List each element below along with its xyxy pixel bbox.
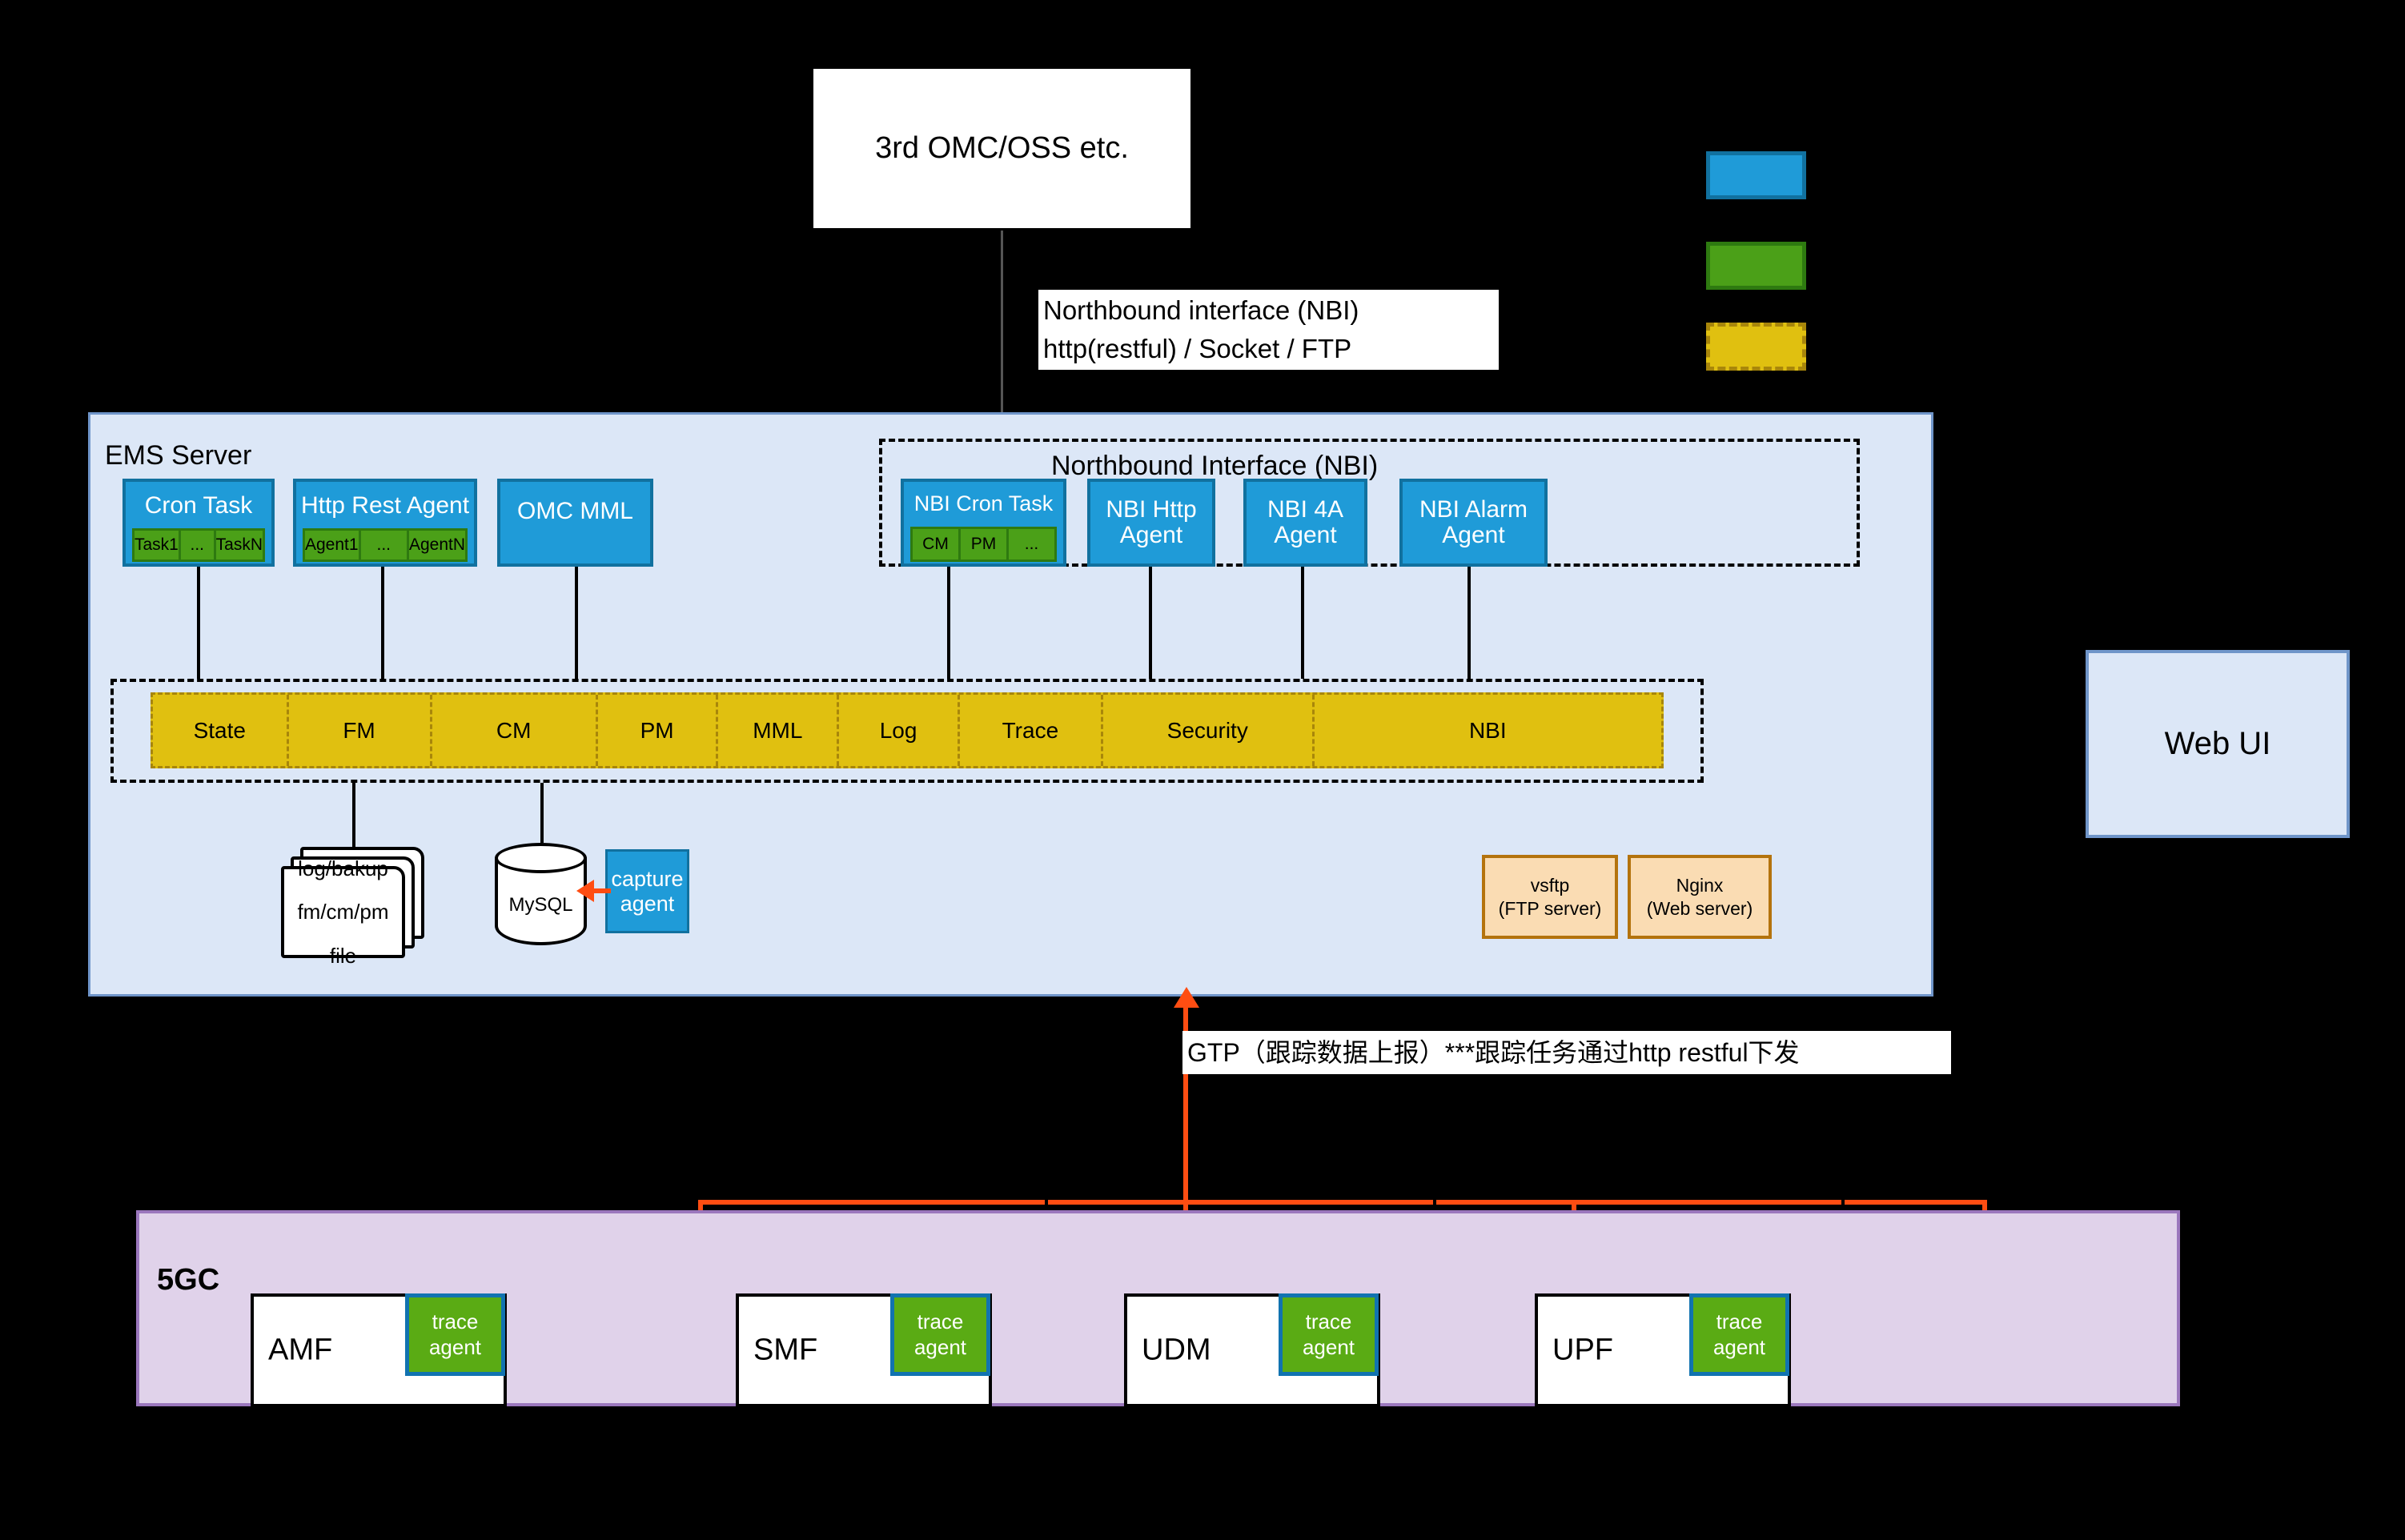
component-omc-mml[interactable]: OMC MML bbox=[497, 479, 653, 567]
gtp-annotation: GTP（跟踪数据上报）***跟踪任务通过http restful下发 bbox=[1182, 1031, 1951, 1074]
http-rest-agent-cell: ... bbox=[361, 531, 409, 559]
connector-cron-task-bus bbox=[197, 567, 200, 679]
nbi-cron-task-cell: CM bbox=[913, 529, 961, 559]
service-bus-segment[interactable]: State bbox=[153, 695, 289, 766]
server-vsftp-role: (FTP server) bbox=[1499, 897, 1602, 920]
log-backup-files-line2: fm/cm/pm file bbox=[284, 890, 402, 977]
component-cron-task[interactable]: Cron Task Task1 ... TaskN bbox=[122, 479, 275, 567]
orange-distribution-bus bbox=[698, 1200, 1987, 1205]
mysql-database-top bbox=[495, 843, 587, 873]
log-backup-files: log/bakup fm/cm/pm file bbox=[281, 866, 405, 958]
log-backup-files-line1: log/bakup bbox=[298, 847, 388, 891]
component-nbi-alarm-agent-label: NBI Alarm Agent bbox=[1403, 497, 1544, 549]
cron-task-cells: Task1 ... TaskN bbox=[132, 528, 265, 562]
trace-agent-udm-line1: trace bbox=[1306, 1309, 1352, 1334]
service-bus-segment[interactable]: Trace bbox=[960, 695, 1103, 766]
nbi-cron-task-cells: CM PM ... bbox=[910, 527, 1057, 562]
third-party-omc-oss-label: 3rd OMC/OSS etc. bbox=[875, 131, 1129, 166]
connector-omc-to-ems bbox=[1001, 231, 1003, 415]
legend-swatch-blue bbox=[1706, 151, 1806, 199]
server-nginx-role: (Web server) bbox=[1647, 897, 1753, 920]
component-nbi-4a-agent[interactable]: NBI 4A Agent bbox=[1243, 479, 1367, 567]
arrow-capture-to-mysql-head bbox=[576, 880, 594, 902]
http-rest-agent-cell: Agent1 bbox=[305, 531, 361, 559]
service-bus-segment[interactable]: NBI bbox=[1315, 695, 1661, 766]
component-nbi-http-agent[interactable]: NBI Http Agent bbox=[1087, 479, 1215, 567]
service-bus-segment[interactable]: FM bbox=[289, 695, 432, 766]
network-function-smf-label: SMF bbox=[753, 1333, 817, 1368]
trace-agent-upf-line1: trace bbox=[1716, 1309, 1763, 1334]
ems-server-title: EMS Server bbox=[105, 440, 251, 471]
connector-omc-mml-bus bbox=[575, 567, 578, 679]
network-function-upf-label: UPF bbox=[1552, 1333, 1613, 1368]
connector-nbi-cron-task-bus bbox=[947, 567, 950, 679]
mysql-label: MySQL bbox=[508, 894, 572, 916]
legend-swatch-yellow bbox=[1706, 323, 1806, 371]
trace-agent-smf-line1: trace bbox=[917, 1309, 964, 1334]
service-bus-segment[interactable]: CM bbox=[432, 695, 598, 766]
component-nbi-alarm-agent[interactable]: NBI Alarm Agent bbox=[1399, 479, 1548, 567]
component-http-rest-agent[interactable]: Http Rest Agent Agent1 ... AgentN bbox=[293, 479, 477, 567]
trace-agent-udm[interactable]: trace agent bbox=[1279, 1293, 1379, 1376]
http-rest-agent-cells: Agent1 ... AgentN bbox=[303, 528, 468, 562]
cron-task-cell: TaskN bbox=[216, 531, 263, 559]
service-bus-segment[interactable]: PM bbox=[598, 695, 719, 766]
nbi-protocol-callout: Northbound interface (NBI) http(restful)… bbox=[1038, 290, 1499, 370]
service-bus-segment[interactable]: MML bbox=[718, 695, 839, 766]
trace-agent-upf[interactable]: trace agent bbox=[1689, 1293, 1789, 1376]
trace-agent-upf-line2: agent bbox=[1713, 1335, 1765, 1360]
component-cron-task-label: Cron Task bbox=[126, 485, 271, 527]
nbi-callout-line1: Northbound interface (NBI) bbox=[1043, 291, 1494, 330]
connector-nbi-http-agent-bus bbox=[1149, 567, 1152, 679]
capture-agent-line1: capture bbox=[611, 867, 683, 892]
nbi-cron-task-cell: PM bbox=[961, 529, 1009, 559]
orange-riser-arrow-head bbox=[1174, 987, 1199, 1008]
trace-agent-amf-line2: agent bbox=[429, 1335, 481, 1360]
network-function-udm-label: UDM bbox=[1142, 1333, 1211, 1368]
server-nginx: Nginx (Web server) bbox=[1628, 855, 1772, 939]
trace-agent-smf-line2: agent bbox=[914, 1335, 966, 1360]
connector-nbi-alarm-agent-bus bbox=[1467, 567, 1471, 679]
third-party-omc-oss-box: 3rd OMC/OSS etc. bbox=[811, 66, 1193, 231]
capture-agent[interactable]: capture agent bbox=[605, 849, 689, 933]
web-ui-box[interactable]: Web UI bbox=[2086, 650, 2350, 838]
connector-nbi-4a-agent-bus bbox=[1301, 567, 1304, 679]
trace-agent-amf[interactable]: trace agent bbox=[405, 1293, 505, 1376]
trace-agent-udm-line2: agent bbox=[1303, 1335, 1355, 1360]
component-nbi-cron-task-label: NBI Cron Task bbox=[904, 483, 1063, 525]
component-nbi-cron-task[interactable]: NBI Cron Task CM PM ... bbox=[901, 479, 1066, 567]
connector-http-rest-agent-bus bbox=[381, 567, 384, 679]
server-vsftp-name: vsftp bbox=[1531, 874, 1570, 897]
diagram-canvas: 3rd OMC/OSS etc. Northbound interface (N… bbox=[0, 0, 2405, 1540]
component-nbi-http-agent-label: NBI Http Agent bbox=[1090, 497, 1212, 549]
nbi-callout-line2: http(restful) / Socket / FTP bbox=[1043, 330, 1494, 368]
component-nbi-4a-agent-label: NBI 4A Agent bbox=[1247, 497, 1364, 549]
component-http-rest-agent-label: Http Rest Agent bbox=[296, 485, 474, 527]
nbi-group-title: Northbound Interface (NBI) bbox=[1051, 451, 1378, 482]
cron-task-cell: ... bbox=[181, 531, 216, 559]
service-bus-segment[interactable]: Security bbox=[1103, 695, 1315, 766]
server-vsftp: vsftp (FTP server) bbox=[1482, 855, 1618, 939]
fivegc-panel: 5GC AMF trace agent SMF trace agent UDM … bbox=[136, 1210, 2180, 1406]
http-rest-agent-cell: AgentN bbox=[409, 531, 465, 559]
trace-agent-smf[interactable]: trace agent bbox=[890, 1293, 990, 1376]
gtp-annotation-label: GTP（跟踪数据上报）***跟踪任务通过http restful下发 bbox=[1187, 1038, 1800, 1067]
cron-task-cell: Task1 bbox=[135, 531, 181, 559]
service-bus-segment[interactable]: Log bbox=[839, 695, 960, 766]
component-omc-mml-label: OMC MML bbox=[517, 499, 633, 524]
legend-swatch-green bbox=[1706, 242, 1806, 290]
fivegc-title: 5GC bbox=[157, 1263, 219, 1297]
arrow-capture-to-mysql-line bbox=[593, 888, 611, 893]
server-nginx-name: Nginx bbox=[1676, 874, 1724, 897]
nbi-cron-task-cell: ... bbox=[1009, 529, 1054, 559]
ems-server-panel: EMS Server Northbound Interface (NBI) Cr… bbox=[88, 412, 1933, 997]
capture-agent-line2: agent bbox=[620, 892, 675, 916]
connector-bus-mysql bbox=[540, 783, 544, 843]
service-bus: State FM CM PM MML Log Trace Security NB… bbox=[151, 692, 1664, 768]
web-ui-label: Web UI bbox=[2165, 726, 2271, 762]
network-function-amf-label: AMF bbox=[268, 1333, 332, 1368]
trace-agent-amf-line1: trace bbox=[432, 1309, 479, 1334]
